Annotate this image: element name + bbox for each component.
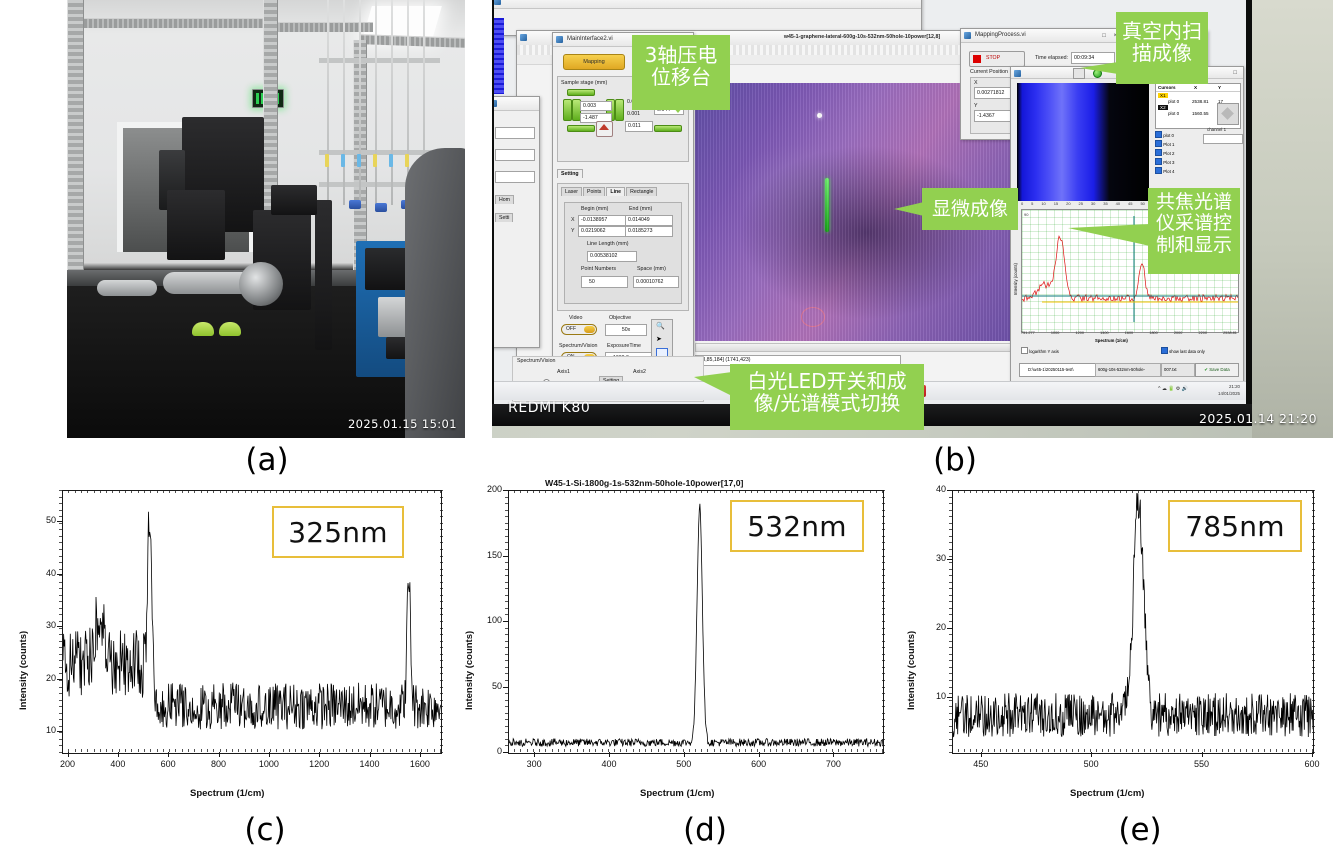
minor-tick [1246, 749, 1247, 752]
x-tick-label: 600 [747, 759, 771, 769]
green-cap [192, 322, 214, 336]
minor-tick [505, 595, 508, 596]
minor-tick [245, 749, 246, 752]
minor-tick [59, 601, 62, 602]
minor-tick [295, 749, 296, 752]
minor-tick [1288, 749, 1289, 752]
minor-tick [264, 749, 265, 752]
show-last-data-checkbox[interactable]: show last data only [1161, 347, 1205, 354]
minor-tick [1042, 490, 1043, 493]
minor-tick [59, 582, 62, 583]
minor-tick [1312, 654, 1315, 655]
mapping-button[interactable]: Mapping [563, 54, 625, 70]
minor-tick [1312, 726, 1315, 727]
y-tick-label: 50 [28, 515, 56, 525]
minor-tick [421, 749, 422, 752]
minor-tick [505, 726, 508, 727]
vacuum-chamber-port [239, 262, 283, 306]
minor-tick [1306, 490, 1307, 493]
minor-tick [701, 490, 702, 493]
y-tick-label: 40 [918, 484, 946, 494]
minor-tick [949, 562, 952, 563]
minor-tick [1294, 490, 1295, 493]
live-plot-xlabel: Spectrum (1/cm) [1095, 338, 1128, 343]
minor-tick [59, 713, 62, 714]
minor-tick [1294, 749, 1295, 752]
minor-tick [1258, 749, 1259, 752]
minor-tick [59, 608, 62, 609]
y-tick-label: 0 [474, 746, 502, 756]
minor-tick [863, 490, 864, 493]
minor-tick [614, 490, 615, 493]
minor-tick [664, 749, 665, 752]
minor-tick [1216, 749, 1217, 752]
minor-tick [949, 732, 952, 733]
phone-watermark: REDMI K80 [508, 400, 590, 416]
minor-tick [949, 490, 952, 491]
minor-tick [409, 490, 410, 493]
minor-tick [194, 749, 195, 752]
minor-tick [1084, 749, 1085, 752]
minor-tick [1030, 490, 1031, 493]
line-length-field[interactable]: 0.00538102 [587, 251, 637, 262]
spectrometer-window-controls[interactable]: □ [1233, 67, 1240, 79]
minor-tick [1312, 542, 1315, 543]
home-button[interactable] [596, 121, 613, 137]
image-hscrollbar[interactable] [695, 343, 1027, 352]
minor-tick [602, 749, 603, 752]
minor-tick [257, 749, 258, 752]
stage-step-z[interactable]: 0.011 [625, 121, 653, 132]
channel-field[interactable] [1203, 134, 1243, 144]
minor-tick [639, 749, 640, 752]
minor-tick [427, 749, 428, 752]
tab-laser[interactable]: Laser [561, 187, 582, 196]
minor-tick [570, 490, 571, 493]
minor-tick [1084, 490, 1085, 493]
ylabel-e: Intensity (counts) [906, 631, 917, 710]
annotation-confocal-spectrometer: 共焦光谱 仪采谱控 制和显示 [1148, 188, 1240, 274]
minor-tick [100, 749, 101, 752]
minor-tick [949, 503, 952, 504]
minor-tick [283, 749, 284, 752]
minor-tick [670, 749, 671, 752]
minor-tick [782, 749, 783, 752]
minor-tick [832, 490, 833, 493]
x-tick-label: 800 [207, 759, 231, 769]
minor-tick [220, 490, 221, 493]
minor-tick [59, 745, 62, 746]
minor-tick [949, 608, 952, 609]
minor-tick [1312, 556, 1315, 557]
y-tick-label: 50 [474, 681, 502, 691]
minor-tick [1312, 608, 1315, 609]
minor-tick [1036, 490, 1037, 493]
minor-tick [664, 490, 665, 493]
minor-tick [1312, 634, 1315, 635]
minor-tick [952, 749, 953, 752]
minor-tick [670, 490, 671, 493]
minor-tick [1282, 490, 1283, 493]
minor-tick [949, 569, 952, 570]
minor-tick [970, 749, 971, 752]
minor-tick [427, 490, 428, 493]
channel-label: channel 1 [1207, 127, 1226, 132]
minor-tick [949, 739, 952, 740]
minor-tick [658, 490, 659, 493]
minor-tick [207, 749, 208, 752]
minor-tick [870, 749, 871, 752]
minor-tick [876, 749, 877, 752]
minor-tick [1066, 490, 1067, 493]
minor-tick [958, 490, 959, 493]
minor-tick [1312, 490, 1315, 491]
minor-tick [838, 490, 839, 493]
minor-tick [1030, 749, 1031, 752]
point-numbers-field[interactable]: 50 [581, 276, 628, 288]
minor-tick [1276, 749, 1277, 752]
minor-tick [949, 601, 952, 602]
minor-tick [508, 490, 509, 493]
minor-tick [59, 641, 62, 642]
minor-tick [1060, 490, 1061, 493]
minor-tick [1312, 667, 1315, 668]
minor-tick [949, 634, 952, 635]
minor-tick [1264, 490, 1265, 493]
x-tick [684, 752, 685, 757]
plot-checkbox[interactable]: plot 0 [1155, 131, 1203, 138]
y-tick-label: 150 [474, 550, 502, 560]
minor-tick [59, 497, 62, 498]
minor-tick [59, 700, 62, 701]
plot-checkbox[interactable]: Plot 2 [1155, 149, 1203, 156]
minor-tick [1120, 749, 1121, 752]
minor-tick [714, 490, 715, 493]
minor-tick [764, 749, 765, 752]
annotation-piezo-stage: 3轴压电 位移台 [632, 35, 730, 110]
cursor-pad-icon[interactable] [1217, 103, 1239, 125]
x-tick [370, 752, 371, 757]
tray-icons[interactable]: ^ ☁ 🔋 ⚙ 🔊 [1158, 386, 1188, 392]
minor-tick [289, 749, 290, 752]
minor-tick [157, 749, 158, 752]
minor-tick [949, 660, 952, 661]
minor-tick [1168, 749, 1169, 752]
minor-tick [201, 749, 202, 752]
zoom-icon[interactable]: 🔍 [656, 322, 665, 330]
minor-tick [851, 749, 852, 752]
minor-tick [949, 516, 952, 517]
minor-tick [68, 749, 69, 752]
minor-tick [1048, 749, 1049, 752]
begin-x-field[interactable]: -0.0138957 [578, 215, 626, 226]
minor-tick [59, 523, 62, 524]
minor-tick [505, 693, 508, 694]
minor-tick [1024, 490, 1025, 493]
minor-tick [59, 510, 62, 511]
minor-tick [520, 749, 521, 752]
minor-tick [1120, 490, 1121, 493]
minor-tick [1270, 749, 1271, 752]
x-tick [1202, 752, 1203, 757]
space-field[interactable]: 0.00010762 [633, 276, 679, 288]
minor-tick [320, 490, 321, 493]
minor-tick [1264, 749, 1265, 752]
y-tick-label: 30 [918, 553, 946, 563]
minor-tick [545, 490, 546, 493]
minor-tick [1204, 749, 1205, 752]
minor-tick [770, 749, 771, 752]
minor-tick [59, 647, 62, 648]
minor-tick [988, 490, 989, 493]
minor-tick [505, 556, 508, 557]
tray-clock[interactable]: 21:2014/01/2025 [1218, 384, 1240, 397]
minor-tick [505, 706, 508, 707]
spectrum-strip-preview [494, 18, 504, 94]
minor-tick [949, 706, 952, 707]
minor-tick [970, 490, 971, 493]
tab-line[interactable]: Line [606, 187, 625, 196]
file-index-field[interactable]: 007.txt [1161, 363, 1195, 377]
minor-tick [1180, 749, 1181, 752]
minor-tick [1312, 628, 1315, 629]
axis1-label: Axis1 [557, 369, 570, 375]
minor-tick [383, 490, 384, 493]
minor-tick [59, 706, 62, 707]
minor-tick [514, 490, 515, 493]
save-data-button[interactable]: ✔ Save Data [1195, 363, 1239, 377]
minor-tick [949, 536, 952, 537]
camera-body [271, 185, 317, 215]
minor-tick [138, 490, 139, 493]
green-cap [219, 322, 241, 336]
minor-tick [182, 490, 183, 493]
xlabel-e: Spectrum (1/cm) [1070, 788, 1144, 799]
minor-tick [1312, 562, 1315, 563]
minor-tick [301, 490, 302, 493]
file-path-field[interactable]: D:\w45-1\20250115-test\ [1019, 363, 1099, 377]
setting-button[interactable]: Setting [557, 169, 583, 178]
cursor-row-x1[interactable]: X1 [1156, 92, 1240, 99]
exposure-label: ExposureTime [607, 343, 641, 349]
minor-tick [301, 749, 302, 752]
minor-tick [106, 490, 107, 493]
mapping-y-value: -1.4367 [974, 110, 1012, 122]
minor-tick [732, 490, 733, 493]
end-x-field[interactable]: 0.014049 [625, 215, 673, 226]
x-tick-label: 1400 [358, 759, 382, 769]
objective-select[interactable]: 50x [605, 324, 647, 336]
minor-tick [1312, 516, 1315, 517]
minor-tick [238, 749, 239, 752]
annotation-vacuum-scan-imaging: 真空内扫 描成像 [1116, 12, 1208, 84]
plot-checkbox-list[interactable]: plot 0 Plot 1 Plot 2 Plot 3 Plot 4 [1155, 129, 1203, 176]
minor-tick [552, 749, 553, 752]
minor-tick [994, 490, 995, 493]
cursor-icon[interactable]: ➤ [656, 335, 662, 343]
x-tick [534, 752, 535, 757]
minor-tick [505, 673, 508, 674]
minor-tick [505, 667, 508, 668]
minor-tick [1312, 549, 1315, 550]
minor-tick [59, 628, 62, 629]
minor-tick [59, 529, 62, 530]
minor-tick [1102, 490, 1103, 493]
stop-button[interactable]: STOP [969, 51, 1025, 67]
x-tick-label: 300 [522, 759, 546, 769]
begin-y-field[interactable]: 0.0219062 [578, 226, 626, 237]
minor-tick [371, 749, 372, 752]
minor-tick [1312, 700, 1315, 701]
tab-rectangle[interactable]: Rectangle [626, 187, 657, 196]
log-y-checkbox[interactable]: logarithm Y axis [1021, 347, 1059, 354]
plot-checkbox[interactable]: Plot 3 [1155, 158, 1203, 165]
minor-tick [949, 549, 952, 550]
spectrum-vision-section-label: Spectrum/Vision [517, 358, 555, 364]
minor-tick [390, 749, 391, 752]
frame-post [67, 0, 84, 290]
minor-tick [1240, 749, 1241, 752]
minor-tick [1132, 490, 1133, 493]
minor-tick [505, 628, 508, 629]
minor-tick [1312, 497, 1315, 498]
minor-tick [1312, 739, 1315, 740]
minor-tick [751, 749, 752, 752]
plot-checkbox[interactable]: Plot 4 [1155, 167, 1203, 174]
minor-tick [505, 601, 508, 602]
minor-tick [358, 749, 359, 752]
pattern-tabs[interactable]: Laser Points Line Rectangle [561, 187, 685, 196]
minor-tick [207, 490, 208, 493]
objective-label: Objective [609, 315, 631, 321]
minor-tick [720, 749, 721, 752]
minor-tick [1312, 621, 1315, 622]
y-tick [947, 697, 952, 698]
minor-tick [1312, 660, 1315, 661]
minor-tick [402, 490, 403, 493]
minor-tick [59, 575, 62, 576]
x-tick-label: 700 [821, 759, 845, 769]
minor-tick [1144, 749, 1145, 752]
minor-tick [505, 608, 508, 609]
minor-tick [1312, 582, 1315, 583]
minor-tick [789, 749, 790, 752]
minor-tick [505, 654, 508, 655]
minor-tick [949, 752, 952, 753]
file-params-field[interactable]: 600g-10s-532nm-50hole- [1095, 363, 1161, 377]
minor-tick [364, 749, 365, 752]
end-label: End (mm) [629, 206, 652, 212]
minor-tick [964, 490, 965, 493]
minor-tick [377, 749, 378, 752]
minor-tick [257, 490, 258, 493]
x-tick-label: 1600 [408, 759, 432, 769]
minor-tick [505, 549, 508, 550]
minor-tick [1108, 749, 1109, 752]
minor-tick [949, 582, 952, 583]
minor-tick [505, 680, 508, 681]
minor-tick [157, 490, 158, 493]
minor-tick [583, 749, 584, 752]
minor-tick [175, 749, 176, 752]
mapping-window-title: MappingProcess.vi [975, 32, 1026, 38]
minor-tick [505, 582, 508, 583]
minor-tick [505, 660, 508, 661]
minor-tick [352, 490, 353, 493]
minor-tick [976, 749, 977, 752]
minor-tick [1312, 752, 1315, 753]
minor-tick [59, 562, 62, 563]
minor-tick [751, 490, 752, 493]
minor-tick [726, 490, 727, 493]
minor-tick [163, 749, 164, 752]
minor-tick [213, 749, 214, 752]
x-tick [269, 752, 270, 757]
minor-tick [764, 490, 765, 493]
minor-tick [645, 490, 646, 493]
photo-timestamp: 2025.01.14 21:20 [1199, 411, 1317, 426]
minor-tick [1126, 749, 1127, 752]
minor-tick [577, 749, 578, 752]
minor-tick [1192, 490, 1193, 493]
minor-tick [589, 749, 590, 752]
stage-x-field[interactable]: 0.003 [580, 101, 612, 111]
minor-tick [59, 569, 62, 570]
begin-label: Begin (mm) [581, 206, 608, 212]
tab-points[interactable]: Points [583, 187, 605, 196]
minor-tick [1312, 575, 1315, 576]
minor-tick [81, 749, 82, 752]
minor-tick [514, 749, 515, 752]
minor-tick [1132, 749, 1133, 752]
background-window-2[interactable]: Hom Setti [494, 96, 540, 348]
minor-tick [745, 749, 746, 752]
plot-checkbox[interactable]: Plot 1 [1155, 140, 1203, 147]
minor-tick [505, 562, 508, 563]
minor-tick [232, 490, 233, 493]
minor-tick [949, 713, 952, 714]
x-tick [118, 752, 119, 757]
minor-tick [1312, 503, 1315, 504]
y-tick-label: 10 [918, 691, 946, 701]
minor-tick [952, 490, 953, 493]
minor-tick [505, 497, 508, 498]
x-tick [981, 752, 982, 757]
minor-tick [505, 588, 508, 589]
minor-tick [276, 490, 277, 493]
minor-tick [633, 490, 634, 493]
minor-tick [949, 654, 952, 655]
minor-tick [1150, 749, 1151, 752]
minor-tick [1198, 490, 1199, 493]
minor-tick [633, 749, 634, 752]
live-plot-xticks: 751.2771000 12001400 16001800 20002200 2… [1021, 331, 1237, 335]
stage-step-y[interactable]: 0.001 [625, 110, 645, 118]
chart-title-d: W45-1-Si-1800g-1s-532nm-50hole-10power[1… [545, 478, 743, 488]
minor-tick [81, 490, 82, 493]
minor-tick [807, 490, 808, 493]
vertical-rail [315, 200, 332, 350]
video-toggle[interactable]: OFF [561, 324, 597, 335]
minor-tick [144, 490, 145, 493]
minor-tick [505, 732, 508, 733]
end-y-field[interactable]: 0.0185273 [625, 226, 673, 237]
x-tick-label: 500 [672, 759, 696, 769]
minor-tick [270, 749, 271, 752]
minor-tick [1312, 680, 1315, 681]
minor-tick [949, 628, 952, 629]
minor-tick [739, 490, 740, 493]
